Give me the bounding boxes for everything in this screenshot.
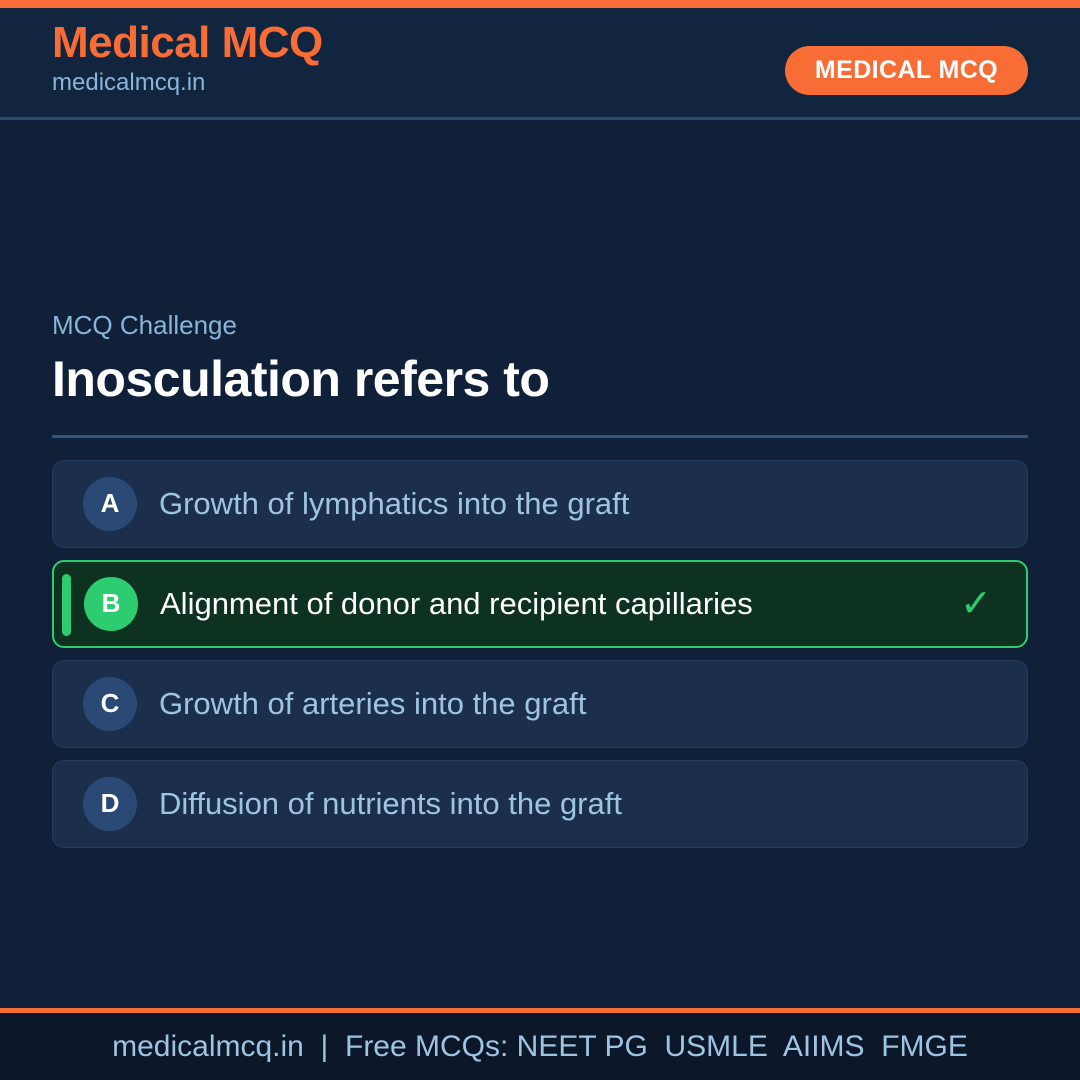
- brand: Medical MCQ medicalmcq.in: [52, 20, 323, 98]
- option-letter-badge-d: D: [83, 777, 137, 831]
- option-row-b[interactable]: B Alignment of donor and recipient capil…: [52, 560, 1028, 648]
- option-label-c: Growth of arteries into the graft: [159, 685, 955, 722]
- options-list: A Growth of lymphatics into the graft B …: [52, 460, 1028, 848]
- correct-accent-bar: [62, 574, 71, 636]
- footer-text: medicalmcq.in | Free MCQs: NEET PG USMLE…: [112, 1032, 968, 1062]
- option-letter-badge-a: A: [83, 477, 137, 531]
- title-divider: [52, 435, 1028, 438]
- header-badge: MEDICAL MCQ: [785, 46, 1028, 95]
- option-letter-badge-b: B: [84, 577, 138, 631]
- option-label-b: Alignment of donor and recipient capilla…: [160, 585, 954, 622]
- option-label-d: Diffusion of nutrients into the graft: [159, 785, 955, 822]
- check-icon-b: ✓: [954, 585, 998, 623]
- option-row-d[interactable]: D Diffusion of nutrients into the graft: [52, 760, 1028, 848]
- option-label-a: Growth of lymphatics into the graft: [159, 485, 955, 522]
- brand-subtitle: medicalmcq.in: [52, 68, 323, 98]
- option-letter-badge-c: C: [83, 677, 137, 731]
- option-row-a[interactable]: A Growth of lymphatics into the graft: [52, 460, 1028, 548]
- question-title: Inosculation refers to: [52, 351, 1028, 409]
- option-row-c[interactable]: C Growth of arteries into the graft: [52, 660, 1028, 748]
- page-header: Medical MCQ medicalmcq.in MEDICAL MCQ: [0, 8, 1080, 120]
- brand-title: Medical MCQ: [52, 20, 323, 66]
- top-accent-bar: [0, 0, 1080, 8]
- main-content: MCQ Challenge Inosculation refers to A G…: [52, 310, 1028, 860]
- page-footer: medicalmcq.in | Free MCQs: NEET PG USMLE…: [0, 1008, 1080, 1080]
- eyebrow-label: MCQ Challenge: [52, 310, 1028, 341]
